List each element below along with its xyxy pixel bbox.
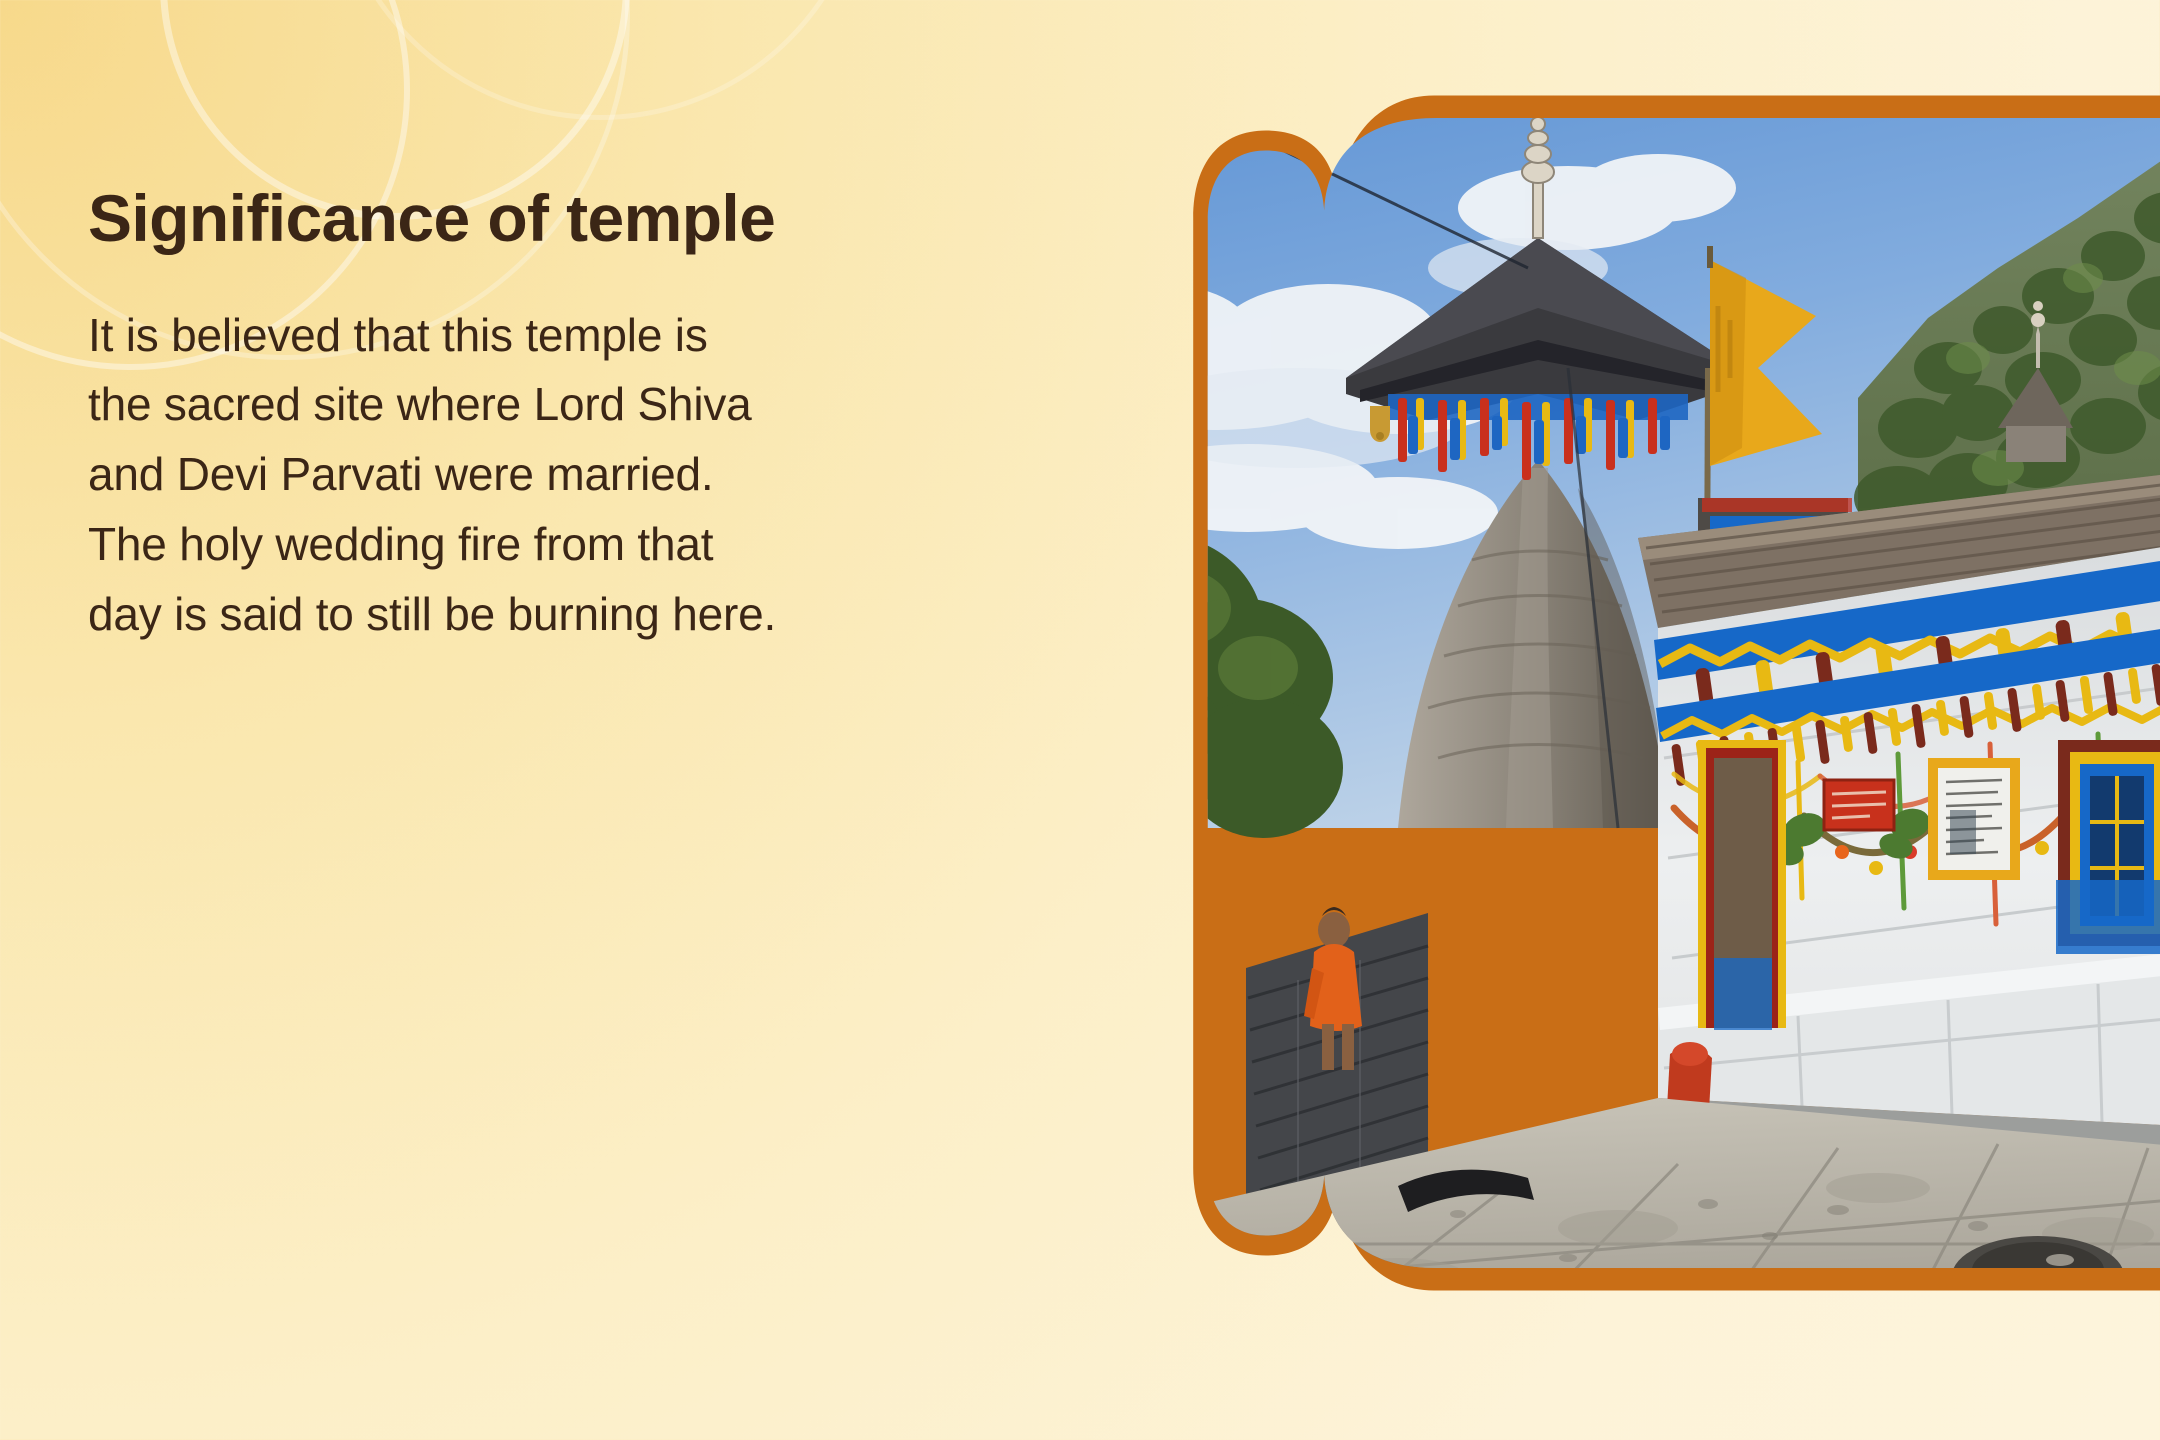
decor-ring-far-right xyxy=(330,0,870,120)
text-column: Significance of temple It is believed th… xyxy=(88,178,778,650)
temple-photo-illustration xyxy=(1098,68,2160,1318)
temple-photo xyxy=(1098,68,2160,1318)
body-paragraph: It is believed that this temple is the s… xyxy=(88,301,778,651)
page-title: Significance of temple xyxy=(88,178,778,259)
temple-photo-card xyxy=(1098,68,2160,1318)
